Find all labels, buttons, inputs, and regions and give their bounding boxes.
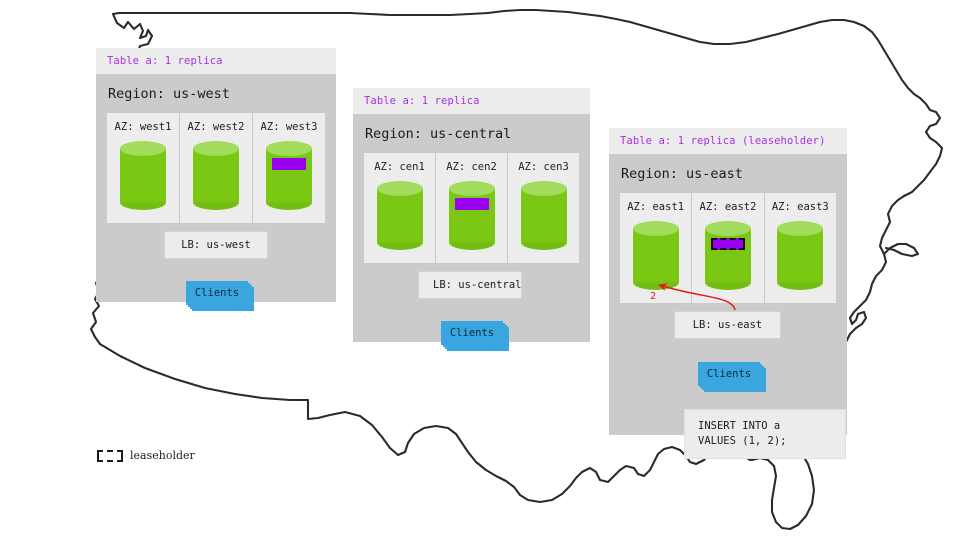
routing-arrow-label: 2: [650, 291, 656, 302]
cylinder-top-icon: [449, 181, 495, 196]
sql-statement-box: INSERT INTO a VALUES (1, 2);: [684, 409, 846, 459]
cylinder-body-icon: [266, 148, 312, 202]
cylinder-top-icon: [777, 221, 823, 236]
panel-body-us-west: Region: us-west AZ: west1 AZ: west2: [96, 74, 336, 302]
cylinder-body-icon: [705, 228, 751, 282]
az-label-east3: AZ: east3: [772, 201, 829, 213]
cylinder-body-icon: [193, 148, 239, 202]
node-cylinder-west1[interactable]: [120, 141, 166, 209]
load-balancer-us-east[interactable]: LB: us-east: [674, 311, 781, 339]
load-balancer-us-central[interactable]: LB: us-central: [418, 271, 522, 299]
clients-us-central[interactable]: Clients: [441, 321, 503, 345]
az-cell-west3[interactable]: AZ: west3: [253, 113, 325, 223]
az-cell-east2[interactable]: AZ: east2: [692, 193, 764, 303]
cylinder-top-icon: [120, 141, 166, 156]
az-row-us-central: AZ: cen1 AZ: cen2: [364, 153, 579, 263]
legend-leaseholder: leaseholder: [97, 449, 195, 462]
cylinder-top-icon: [266, 141, 312, 156]
az-cell-cen2[interactable]: AZ: cen2: [436, 153, 508, 263]
az-label-cen2: AZ: cen2: [446, 161, 497, 173]
load-balancer-us-west[interactable]: LB: us-west: [164, 231, 268, 259]
cylinder-body-icon: [777, 228, 823, 282]
node-cylinder-west3[interactable]: [266, 141, 312, 209]
panel-body-us-central: Region: us-central AZ: cen1 AZ: cen2: [353, 114, 590, 342]
clients-us-west[interactable]: Clients: [186, 281, 248, 305]
az-label-west1: AZ: west1: [115, 121, 172, 133]
cylinder-body-icon: [377, 188, 423, 242]
node-cylinder-cen2[interactable]: [449, 181, 495, 249]
region-label-us-east: Region: us-east: [609, 154, 847, 193]
az-label-cen1: AZ: cen1: [374, 161, 425, 173]
panel-body-us-east: Region: us-east AZ: east1 AZ: east2: [609, 154, 847, 435]
node-cylinder-cen1[interactable]: [377, 181, 423, 249]
region-panel-us-central: Table a: 1 replica Region: us-central AZ…: [353, 88, 590, 342]
cylinder-body-icon: [120, 148, 166, 202]
diagram-canvas: Table a: 1 replica Region: us-west AZ: w…: [0, 0, 960, 540]
region-panel-us-west: Table a: 1 replica Region: us-west AZ: w…: [96, 48, 336, 302]
node-cylinder-east3[interactable]: [777, 221, 823, 289]
dashed-rect-icon: [97, 450, 123, 462]
az-row-us-west: AZ: west1 AZ: west2: [107, 113, 325, 223]
panel-title-us-east: Table a: 1 replica (leaseholder): [609, 128, 847, 154]
az-label-west2: AZ: west2: [188, 121, 245, 133]
az-cell-east1[interactable]: AZ: east1: [620, 193, 692, 303]
az-cell-east3[interactable]: AZ: east3: [765, 193, 836, 303]
legend-label: leaseholder: [130, 449, 195, 462]
az-cell-cen3[interactable]: AZ: cen3: [508, 153, 579, 263]
cylinder-body-icon: [449, 188, 495, 242]
az-label-cen3: AZ: cen3: [518, 161, 569, 173]
replica-marker-cen2: [455, 198, 489, 210]
panel-title-us-west: Table a: 1 replica: [96, 48, 336, 74]
az-label-east1: AZ: east1: [627, 201, 684, 213]
replica-marker-west3: [272, 158, 306, 170]
az-label-east2: AZ: east2: [700, 201, 757, 213]
clients-button-us-central[interactable]: Clients: [441, 321, 503, 345]
node-cylinder-east1[interactable]: [633, 221, 679, 289]
az-cell-west1[interactable]: AZ: west1: [107, 113, 180, 223]
panel-title-us-central: Table a: 1 replica: [353, 88, 590, 114]
node-cylinder-east2[interactable]: [705, 221, 751, 289]
cylinder-body-icon: [521, 188, 567, 242]
cylinder-body-icon: [633, 228, 679, 282]
node-cylinder-west2[interactable]: [193, 141, 239, 209]
az-cell-west2[interactable]: AZ: west2: [180, 113, 253, 223]
cylinder-top-icon: [521, 181, 567, 196]
az-row-us-east: AZ: east1 AZ: east2: [620, 193, 836, 303]
cylinder-top-icon: [193, 141, 239, 156]
az-cell-cen1[interactable]: AZ: cen1: [364, 153, 436, 263]
node-cylinder-cen3[interactable]: [521, 181, 567, 249]
cylinder-top-icon: [705, 221, 751, 236]
cylinder-top-icon: [377, 181, 423, 196]
clients-button-us-east[interactable]: Clients: [698, 362, 760, 386]
cylinder-top-icon: [633, 221, 679, 236]
clients-us-east[interactable]: Clients: [698, 362, 760, 386]
az-label-west3: AZ: west3: [261, 121, 318, 133]
region-label-us-west: Region: us-west: [96, 74, 336, 113]
leaseholder-marker-east2: [711, 238, 745, 250]
clients-button-us-west[interactable]: Clients: [186, 281, 248, 305]
region-label-us-central: Region: us-central: [353, 114, 590, 153]
